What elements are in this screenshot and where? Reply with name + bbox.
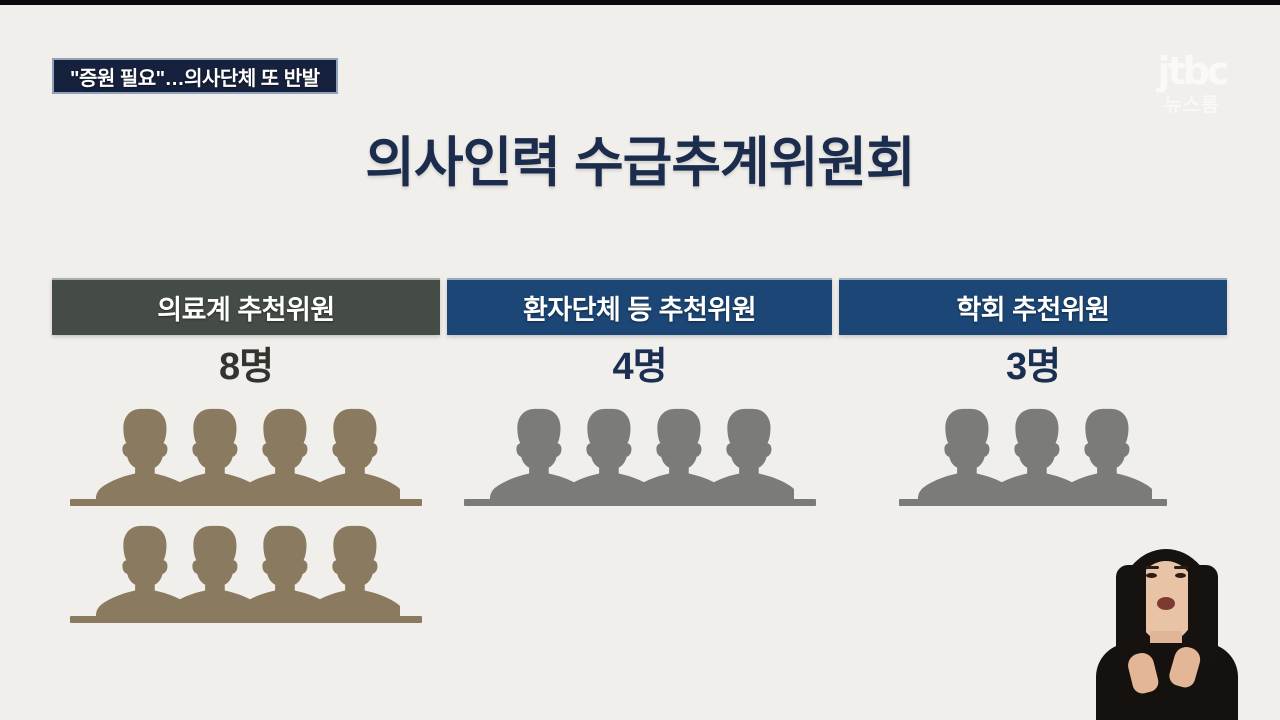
interpreter-brow-right (1174, 566, 1188, 569)
interpreter-brow-left (1145, 566, 1159, 569)
interpreter-mouth (1157, 597, 1175, 610)
column-count-2: 3명 (839, 347, 1227, 389)
interpreter-hair-front-left (1116, 565, 1146, 665)
broadcaster-watermark: jtbc 뉴스룸 (1132, 52, 1252, 115)
sign-language-interpreter (1072, 535, 1262, 720)
person-icon (1054, 405, 1152, 499)
person-icon (696, 405, 794, 499)
interpreter-eye-left (1146, 573, 1157, 578)
chart-column-1: 환자단체 등 추천위원4명 (447, 278, 832, 506)
pictogram-baseline (70, 616, 422, 623)
pictogram-row (447, 401, 832, 499)
chart-column-0: 의료계 추천위원8명 (52, 278, 440, 623)
pictogram-rows (52, 401, 440, 623)
pictogram-row (52, 518, 440, 616)
column-header-label: 의료계 추천위원 (157, 288, 334, 327)
row-spacer (52, 506, 440, 518)
pictogram-baseline (70, 499, 422, 506)
headline-banner: "증원 필요"…의사단체 또 반발 (52, 58, 338, 94)
column-header-0: 의료계 추천위원 (52, 278, 440, 335)
interpreter-eye-right (1175, 573, 1186, 578)
headline-text: "증원 필요"…의사단체 또 반발 (70, 62, 320, 91)
column-header-2: 학회 추천위원 (839, 278, 1227, 335)
column-header-1: 환자단체 등 추천위원 (447, 278, 832, 335)
column-header-label: 환자단체 등 추천위원 (523, 288, 756, 327)
pictogram-row (839, 401, 1227, 499)
person-icon (302, 522, 400, 616)
pictogram-rows (839, 401, 1227, 506)
pictogram-baseline (464, 499, 816, 506)
pictogram-baseline (899, 499, 1167, 506)
column-count-1: 4명 (447, 347, 832, 389)
column-header-label: 학회 추천위원 (956, 288, 1109, 327)
broadcast-screen: "증원 필요"…의사단체 또 반발 jtbc 뉴스룸 의사인력 수급추계위원회 … (0, 0, 1280, 720)
chart-column-2: 학회 추천위원3명 (839, 278, 1227, 506)
column-count-0: 8명 (52, 347, 440, 389)
pictogram-rows (447, 401, 832, 506)
page-title: 의사인력 수급추계위원회 (0, 118, 1280, 197)
letterbox-top-bar (0, 0, 1280, 5)
pictogram-row (52, 401, 440, 499)
person-icon (302, 405, 400, 499)
jtbc-logo-icon: jtbc (1132, 52, 1252, 90)
program-name-label: 뉴스룸 (1132, 96, 1252, 115)
